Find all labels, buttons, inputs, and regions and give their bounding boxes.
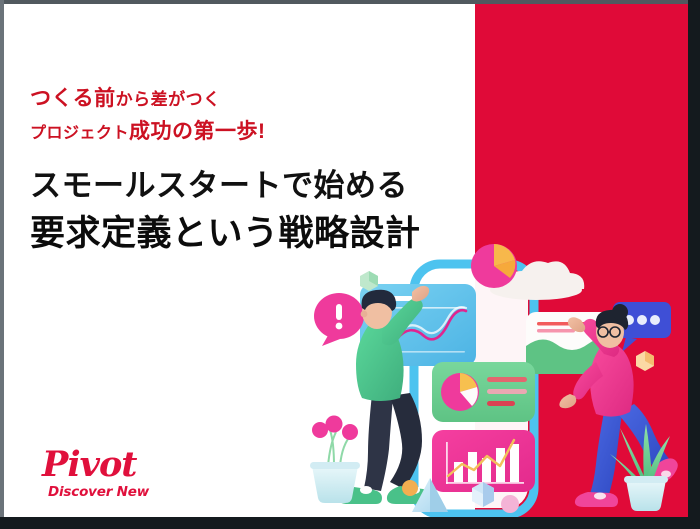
pink-exclamation-bubble <box>314 293 364 346</box>
pivot-logo: Pivot Discover New <box>42 447 202 500</box>
orange-hexagon-icon <box>636 351 654 371</box>
headline-block: つくる前から差がつく プロジェクト成功の第一歩! スモールスタートで始める 要求… <box>30 84 480 255</box>
slide-canvas: つくる前から差がつく プロジェクト成功の第一歩! スモールスタートで始める 要求… <box>4 4 688 517</box>
slide-border-bottom <box>0 517 700 529</box>
logo-tagline: Discover New <box>48 484 202 500</box>
kicker-line-1-bold: つくる前 <box>30 87 116 110</box>
title-line-1: スモールスタートで始める <box>30 167 480 206</box>
kicker-line-1: つくる前から差がつく <box>30 84 480 114</box>
hero-illustration <box>304 234 688 517</box>
potted-flower-plant <box>310 416 360 504</box>
kicker-line-1-rest: から差がつく <box>116 90 221 109</box>
green-pie-card <box>432 362 535 422</box>
slide-frame: つくる前から差がつく プロジェクト成功の第一歩! スモールスタートで始める 要求… <box>0 0 700 529</box>
kicker-line-2: プロジェクト成功の第一歩! <box>30 117 480 147</box>
kicker-line-2-bold: 成功の第一歩! <box>129 120 266 143</box>
kicker-line-2-small: プロジェクト <box>30 125 129 142</box>
orange-sphere <box>402 480 418 496</box>
pink-sphere <box>501 495 519 513</box>
logo-wordmark: Pivot <box>42 447 202 482</box>
slide-border-right <box>688 0 700 529</box>
pie-chart-3d <box>471 244 517 288</box>
